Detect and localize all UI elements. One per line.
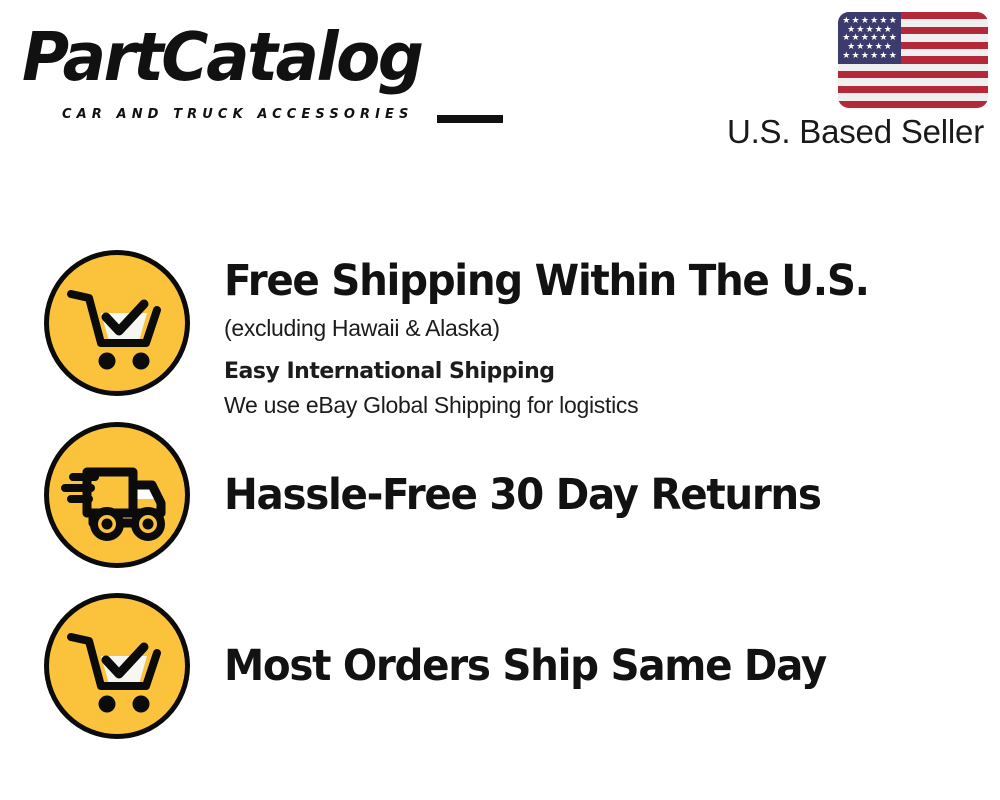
shopping-cart-check-icon [44,593,190,739]
feature-headline: Hassle-Free 30 Day Returns [224,470,920,520]
shopping-cart-check-icon [44,250,190,396]
feature-subline-bold: Easy International Shipping [224,356,964,387]
feature-text-block: Most Orders Ship Same Day [224,641,964,691]
feature-headline: Free Shipping Within The U.S. [224,256,920,306]
feature-subline: We use eBay Global Shipping for logistic… [224,389,964,421]
feature-headline: Most Orders Ship Same Day [224,641,920,691]
delivery-truck-icon [44,422,190,568]
promo-banner: PartCatalog CAR AND TRUCK ACCESSORIES ★ … [0,0,1000,800]
feature-subline: (excluding Hawaii & Alaska) [224,312,964,344]
feature-text-block: Hassle-Free 30 Day Returns [224,470,964,520]
feature-text-block: Free Shipping Within The U.S. (excluding… [224,256,964,421]
feature-list: Free Shipping Within The U.S. (excluding… [0,0,1000,800]
